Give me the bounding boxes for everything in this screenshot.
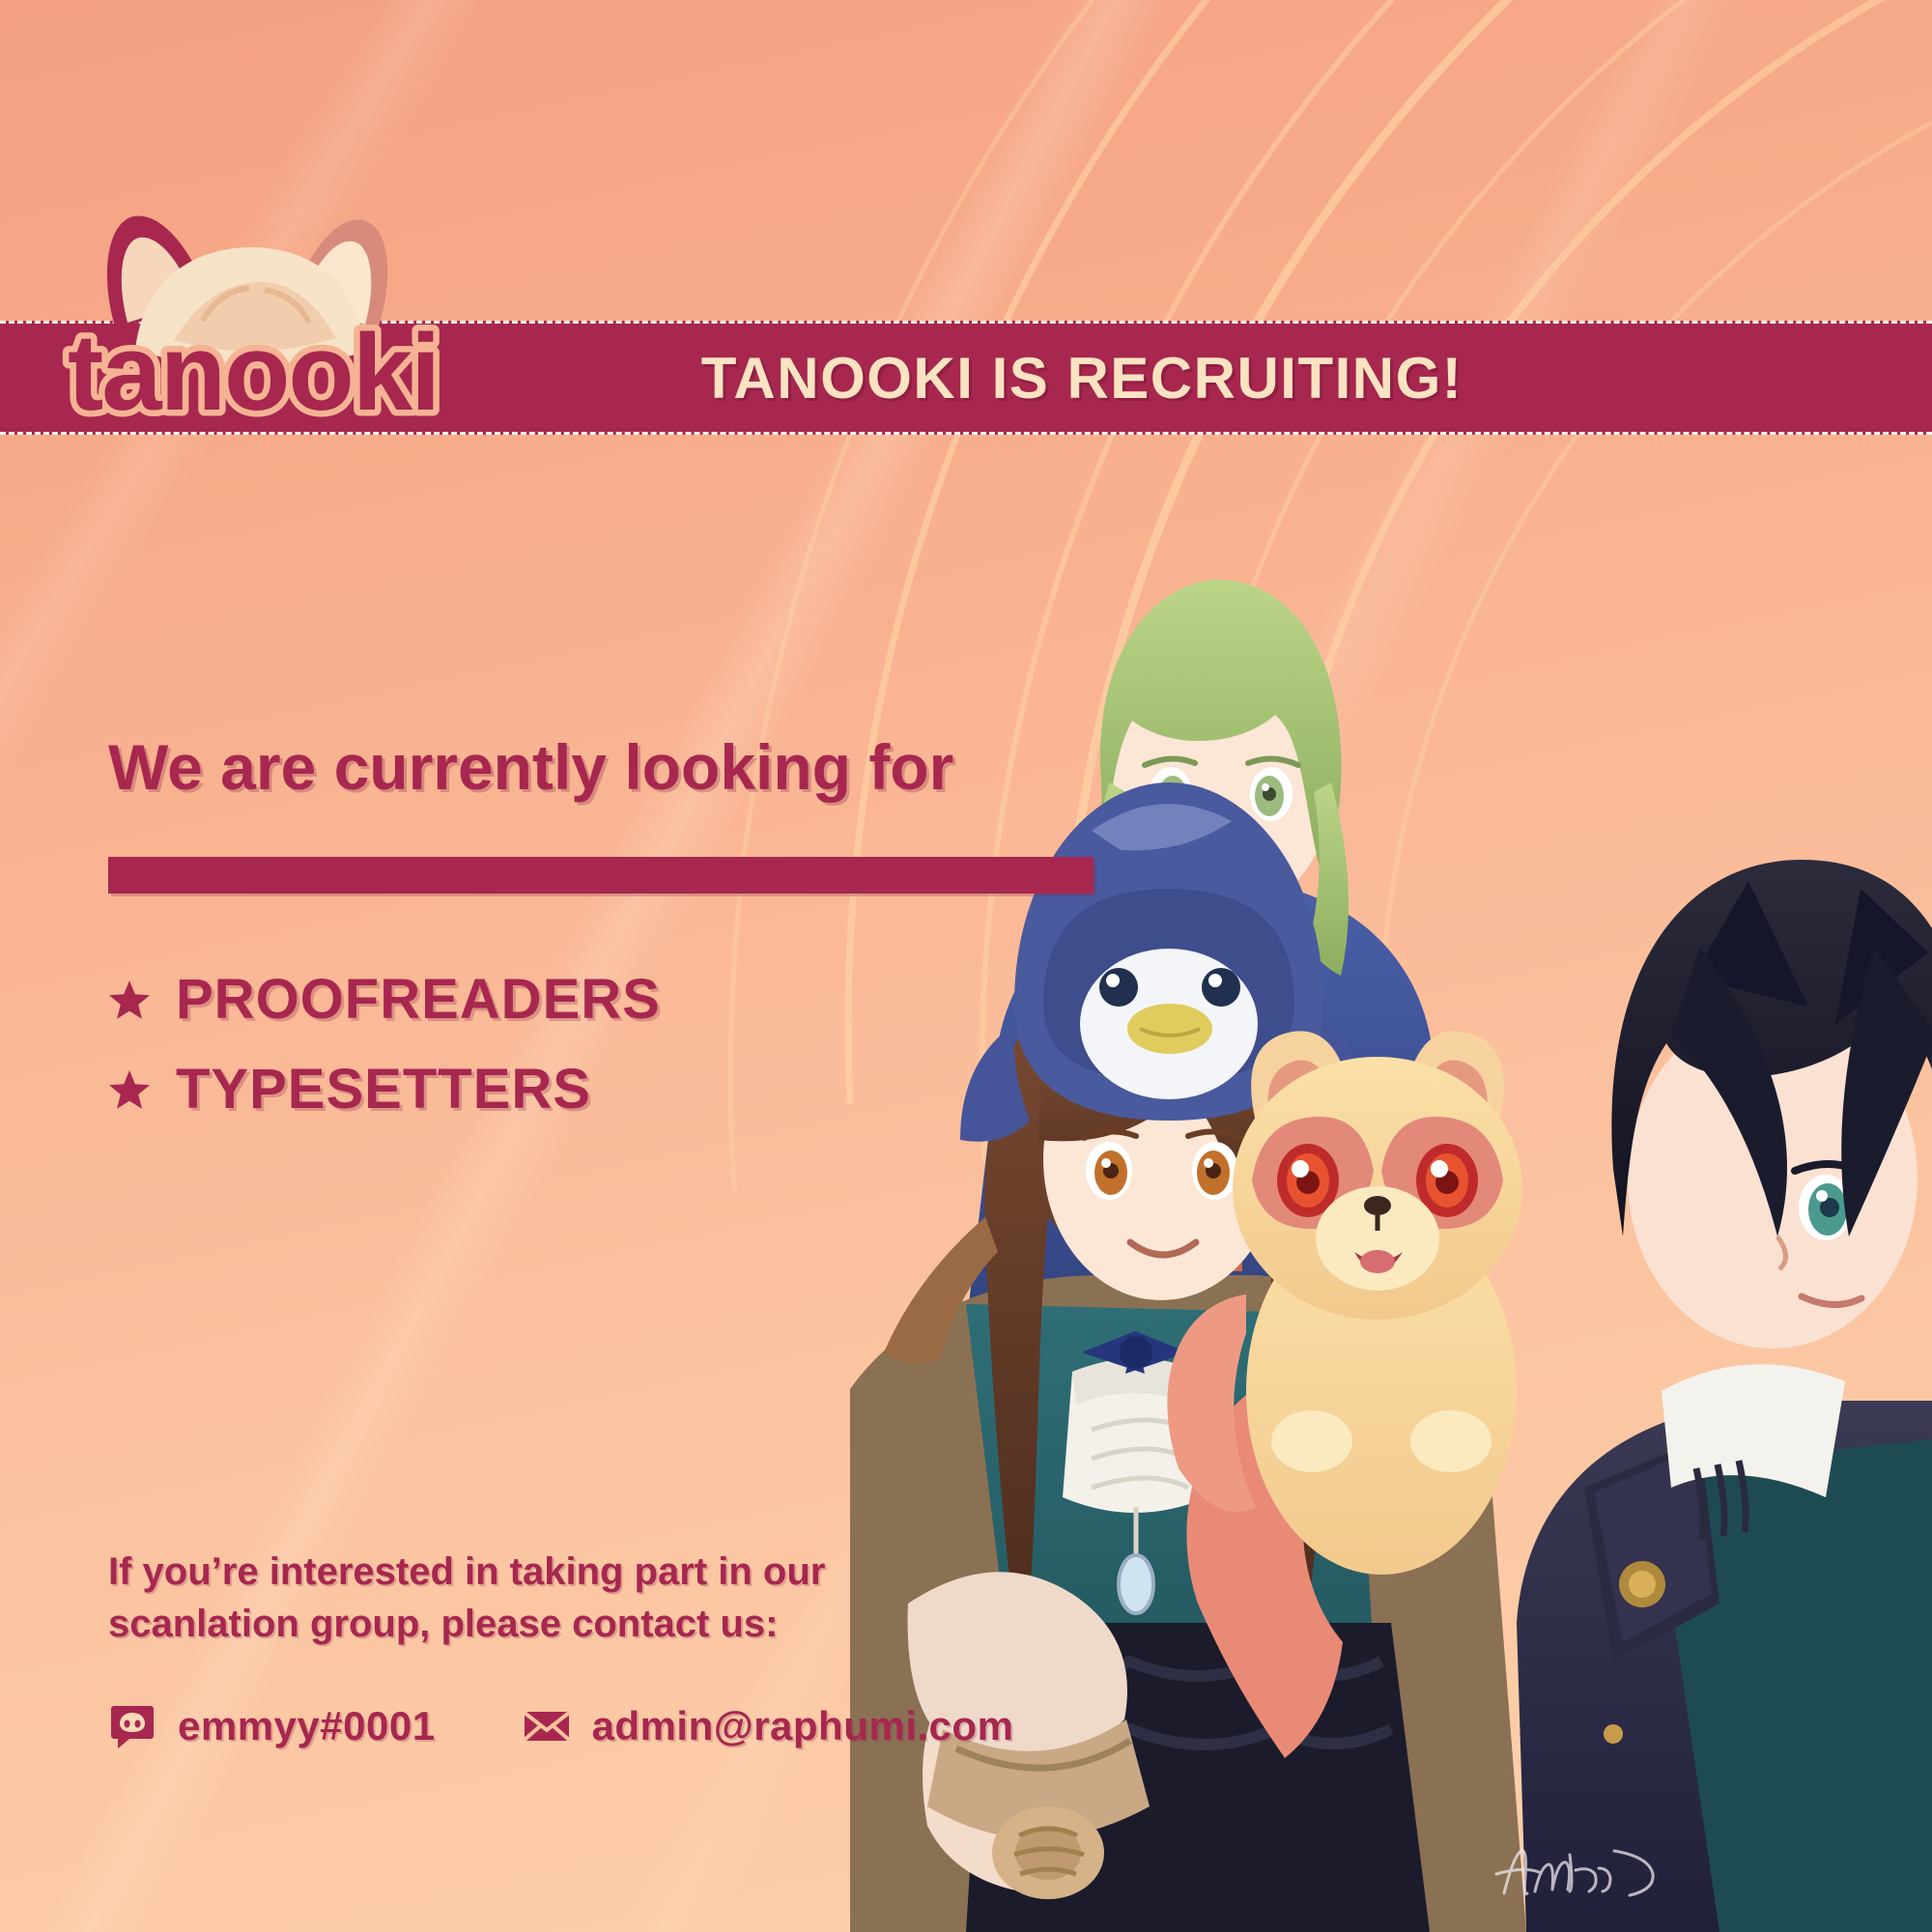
role-label: TYPESETTERS [176, 1057, 591, 1122]
contact-footer: If you’re interested in taking part in o… [108, 1546, 1122, 1750]
banner-title: TANOOKI IS RECRUITING! [469, 345, 1463, 412]
list-item: PROOFREADERS [108, 967, 1113, 1032]
discord-icon [108, 1702, 156, 1750]
main-content: We are currently looking for PROOFREADER… [108, 734, 1113, 1147]
star-icon [108, 1068, 151, 1111]
email-address: admin@raphumi.com [592, 1703, 1014, 1749]
discord-handle: emmyy#0001 [178, 1703, 436, 1749]
page-headline: We are currently looking for [108, 734, 1113, 801]
contact-note: If you’re interested in taking part in o… [108, 1546, 1122, 1650]
envelope-icon [523, 1702, 571, 1750]
list-item: TYPESETTERS [108, 1057, 1113, 1122]
tanooki-wordmark: tanooki [68, 312, 439, 427]
contact-email[interactable]: admin@raphumi.com [523, 1702, 1014, 1750]
tanooki-logo[interactable]: tanooki [58, 205, 464, 427]
contact-note-line-1: If you’re interested in taking part in o… [108, 1546, 1122, 1598]
recruitment-poster: TANOOKI IS RECRUITING! tanooki [0, 0, 1932, 1932]
roles-list: PROOFREADERS TYPESETTERS [108, 967, 1113, 1122]
contact-note-line-2: scanlation group, please contact us: [108, 1598, 1122, 1650]
section-divider [108, 857, 1094, 894]
contact-discord[interactable]: emmyy#0001 [108, 1702, 436, 1750]
star-icon [108, 979, 151, 1021]
artist-signature [1492, 1835, 1666, 1903]
role-label: PROOFREADERS [176, 967, 661, 1032]
contact-list: emmyy#0001 admin@raphumi.com [108, 1702, 1122, 1750]
svg-text:tanooki: tanooki [68, 312, 439, 427]
